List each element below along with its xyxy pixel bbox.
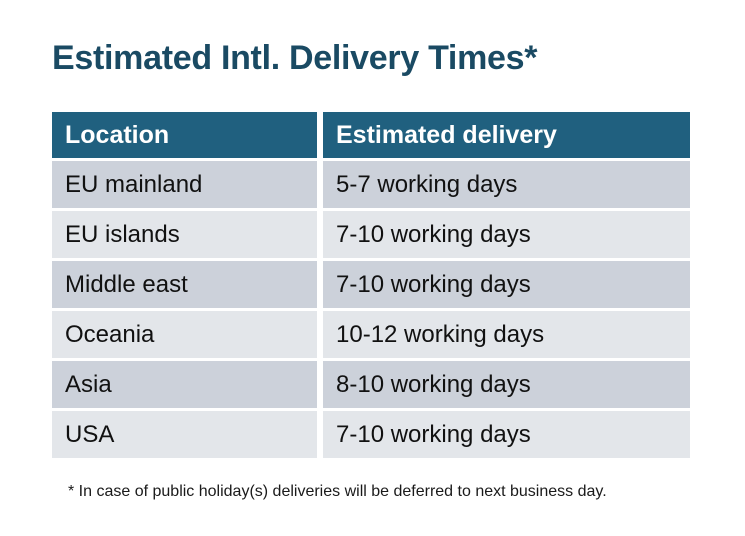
table-row: USA 7-10 working days [52, 411, 690, 458]
cell-estimated-delivery: 7-10 working days [323, 261, 690, 308]
cell-location: Oceania [52, 311, 317, 358]
delivery-times-table: Location Estimated delivery EU mainland … [52, 112, 690, 461]
table-row: EU mainland 5-7 working days [52, 161, 690, 208]
table-row: Oceania 10-12 working days [52, 311, 690, 358]
cell-estimated-delivery: 5-7 working days [323, 161, 690, 208]
cell-estimated-delivery: 10-12 working days [323, 311, 690, 358]
table-row: Middle east 7-10 working days [52, 261, 690, 308]
cell-location: Middle east [52, 261, 317, 308]
page-title: Estimated Intl. Delivery Times* [52, 36, 537, 80]
cell-location: USA [52, 411, 317, 458]
column-header-estimated-delivery: Estimated delivery [323, 112, 690, 158]
column-header-location: Location [52, 112, 317, 158]
table-row: EU islands 7-10 working days [52, 211, 690, 258]
delivery-times-page: Estimated Intl. Delivery Times* Location… [0, 0, 745, 536]
footnote: * In case of public holiday(s) deliverie… [68, 481, 607, 503]
cell-estimated-delivery: 7-10 working days [323, 211, 690, 258]
table-header-row: Location Estimated delivery [52, 112, 690, 158]
table-row: Asia 8-10 working days [52, 361, 690, 408]
cell-location: Asia [52, 361, 317, 408]
cell-estimated-delivery: 7-10 working days [323, 411, 690, 458]
cell-estimated-delivery: 8-10 working days [323, 361, 690, 408]
cell-location: EU mainland [52, 161, 317, 208]
cell-location: EU islands [52, 211, 317, 258]
